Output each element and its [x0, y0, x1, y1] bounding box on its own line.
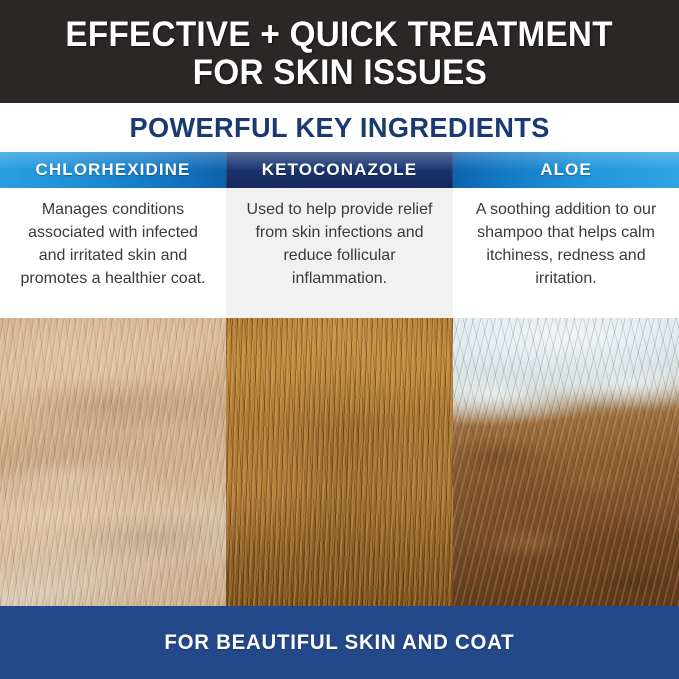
title-line-2: FOR SKIN ISSUES — [192, 54, 486, 92]
column-header-label: KETOCONAZOLE — [262, 160, 418, 180]
fur-wave-layer — [226, 318, 453, 606]
description-cell-chlorhexidine: Manages conditions associated with infec… — [0, 188, 226, 318]
description-text: A soothing addition to our shampoo that … — [467, 198, 665, 290]
description-cell-ketoconazole: Used to help provide relief from skin in… — [226, 188, 453, 318]
fur-wave-layer — [453, 318, 679, 606]
bottom-banner: FOR BEAUTIFUL SKIN AND COAT — [0, 606, 679, 679]
column-header-aloe: ALOE — [453, 152, 679, 188]
title-banner: EFFECTIVE + QUICK TREATMENT FOR SKIN ISS… — [0, 0, 679, 103]
fur-wave-layer — [0, 318, 226, 606]
bottom-banner-text: FOR BEAUTIFUL SKIN AND COAT — [165, 631, 515, 655]
subtitle-heading: POWERFUL KEY INGREDIENTS — [129, 112, 549, 144]
description-row: Manages conditions associated with infec… — [0, 188, 679, 318]
column-header-chlorhexidine: CHLORHEXIDINE — [0, 152, 226, 188]
title-line-1: EFFECTIVE + QUICK TREATMENT — [66, 16, 613, 54]
column-header-bar: CHLORHEXIDINE KETOCONAZOLE ALOE — [0, 152, 679, 188]
subtitle-band: POWERFUL KEY INGREDIENTS — [0, 103, 679, 152]
photo-golden-straight-dog-fur — [226, 318, 453, 606]
description-cell-aloe: A soothing addition to our shampoo that … — [453, 188, 679, 318]
column-header-label: CHLORHEXIDINE — [35, 160, 190, 180]
photo-white-brown-curly-dog-fur — [453, 318, 679, 606]
photo-strip — [0, 318, 679, 606]
description-text: Used to help provide relief from skin in… — [240, 198, 439, 290]
description-text: Manages conditions associated with infec… — [14, 198, 212, 290]
photo-tan-wavy-dog-fur — [0, 318, 226, 606]
ingredients-infographic: EFFECTIVE + QUICK TREATMENT FOR SKIN ISS… — [0, 0, 679, 679]
column-header-ketoconazole: KETOCONAZOLE — [226, 152, 453, 188]
column-header-label: ALOE — [540, 160, 592, 180]
